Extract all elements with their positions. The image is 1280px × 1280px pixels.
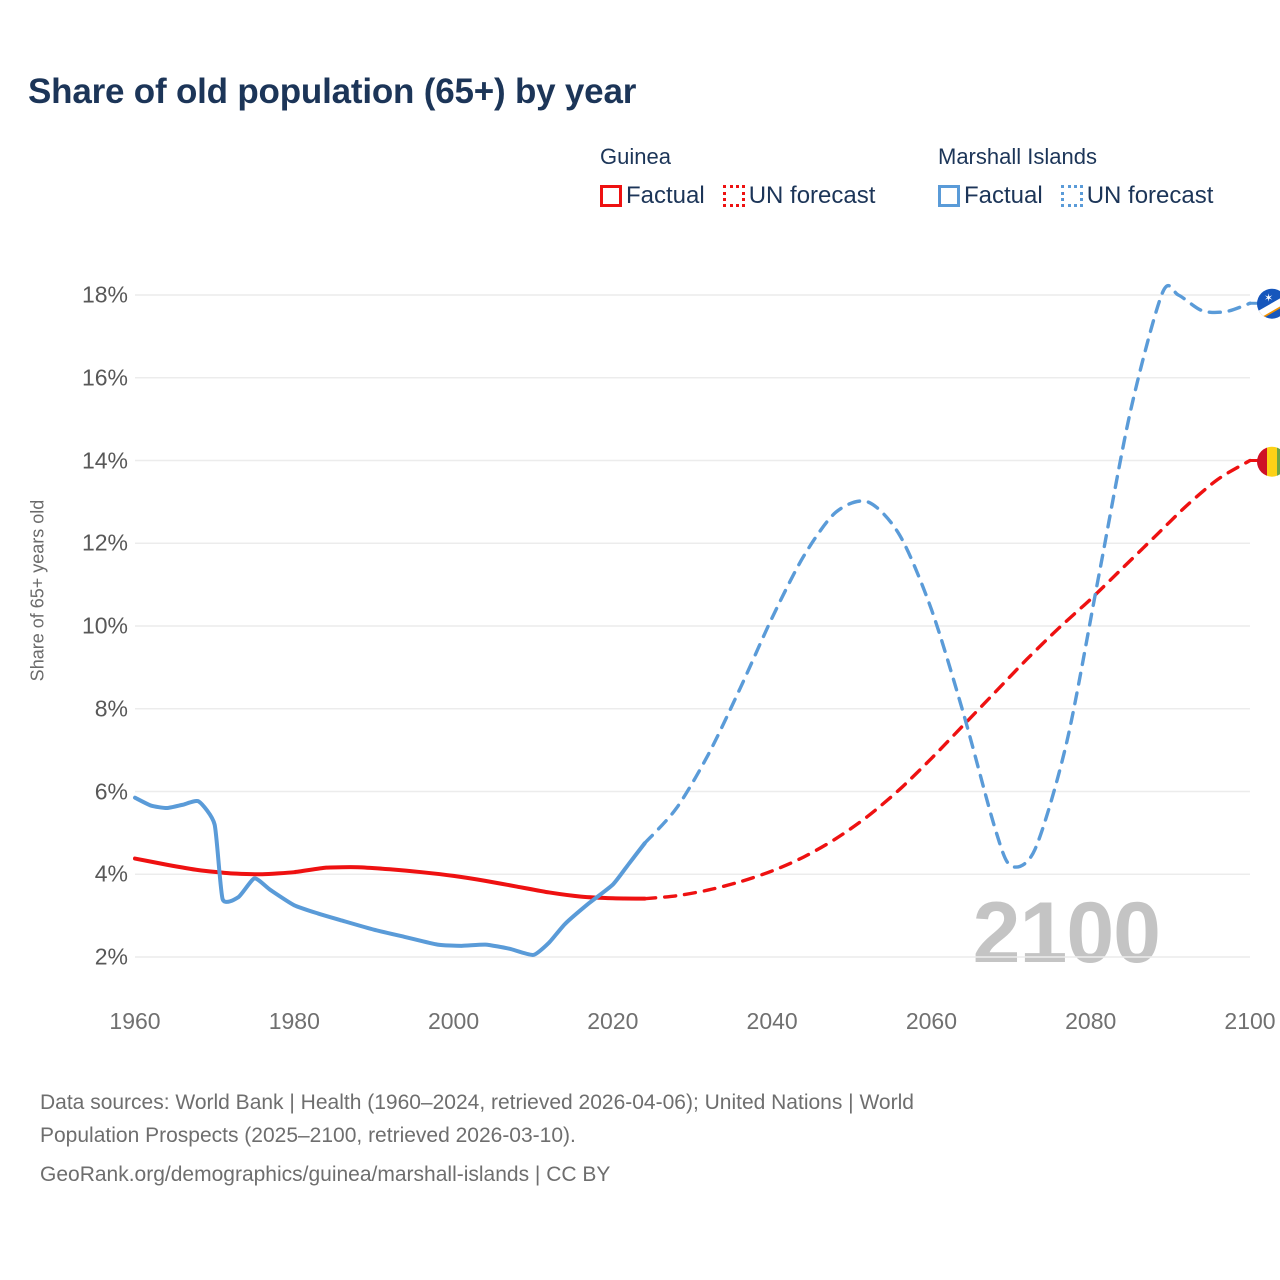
footer-line-1: Data sources: World Bank | Health (1960–… [40,1086,1190,1119]
series-line-marshall-islands-forecast [645,286,1250,867]
series-line-guinea-factual [135,859,645,899]
series-lines [135,286,1250,955]
chart-root: Share of old population (65+) by year Gu… [0,0,1280,1280]
footer-sources: Data sources: World Bank | Health (1960–… [40,1086,1190,1191]
gridlines [135,295,1250,957]
series-line-guinea-forecast [645,461,1250,899]
end-label-guinea: 14% [1257,444,1280,477]
series-line-marshall-islands-factual [135,798,645,955]
footer-line-3: GeoRank.org/demographics/guinea/marshall… [40,1158,1190,1191]
marshall-islands-flag-icon: ✶ [1257,289,1280,319]
end-label-marshall-islands: ✶17.8% [1257,287,1280,320]
guinea-flag-icon [1257,446,1280,476]
footer-line-2: Population Prospects (2025–2100, retriev… [40,1119,1190,1152]
end-label-connectors [1250,303,1258,460]
